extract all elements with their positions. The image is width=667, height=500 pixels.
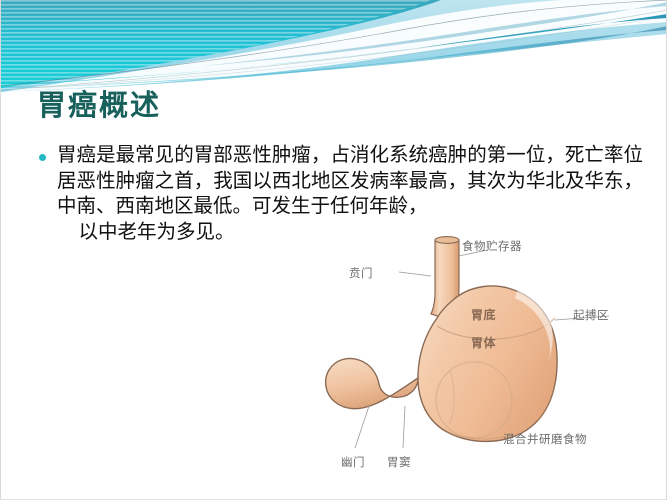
header-wave-banner — [1, 0, 667, 92]
leader-line-cardia — [399, 272, 431, 276]
esophagus-top-opening — [435, 237, 459, 244]
duodenum-pylorus-shape — [326, 358, 418, 408]
label-pacemaker-zone: 起搏区 — [573, 307, 609, 323]
leader-line-pylorus — [355, 406, 369, 448]
label-fundus: 胃底 — [471, 306, 496, 323]
bullet-dot-icon — [39, 154, 46, 161]
label-cardia: 贲门 — [349, 265, 373, 281]
body-paragraph: 胃癌是最常见的胃部恶性肿瘤，占消化系统癌肿的第一位，死亡率位居恶性肿瘤之首，我国… — [57, 145, 643, 217]
page-title: 胃癌概述 — [37, 82, 161, 124]
label-food-storage: 食物贮存器 — [462, 238, 522, 254]
leader-line-antrum — [403, 406, 405, 448]
label-pylorus: 幽门 — [341, 454, 365, 470]
label-corpus: 胃体 — [471, 334, 496, 351]
presentation-slide: 胃癌概述 胃癌是最常见的胃部恶性肿瘤，占消化系统癌肿的第一位，死亡率位居恶性肿瘤… — [0, 0, 667, 500]
label-mixing-grinding: 混合并研磨食物 — [503, 431, 587, 447]
label-antrum: 胃窦 — [387, 454, 411, 470]
stomach-anatomy-illustration: 食物贮存器 贲门 起搏区 胃底 胃体 幽门 胃窦 混合并研磨食物 — [319, 228, 667, 490]
